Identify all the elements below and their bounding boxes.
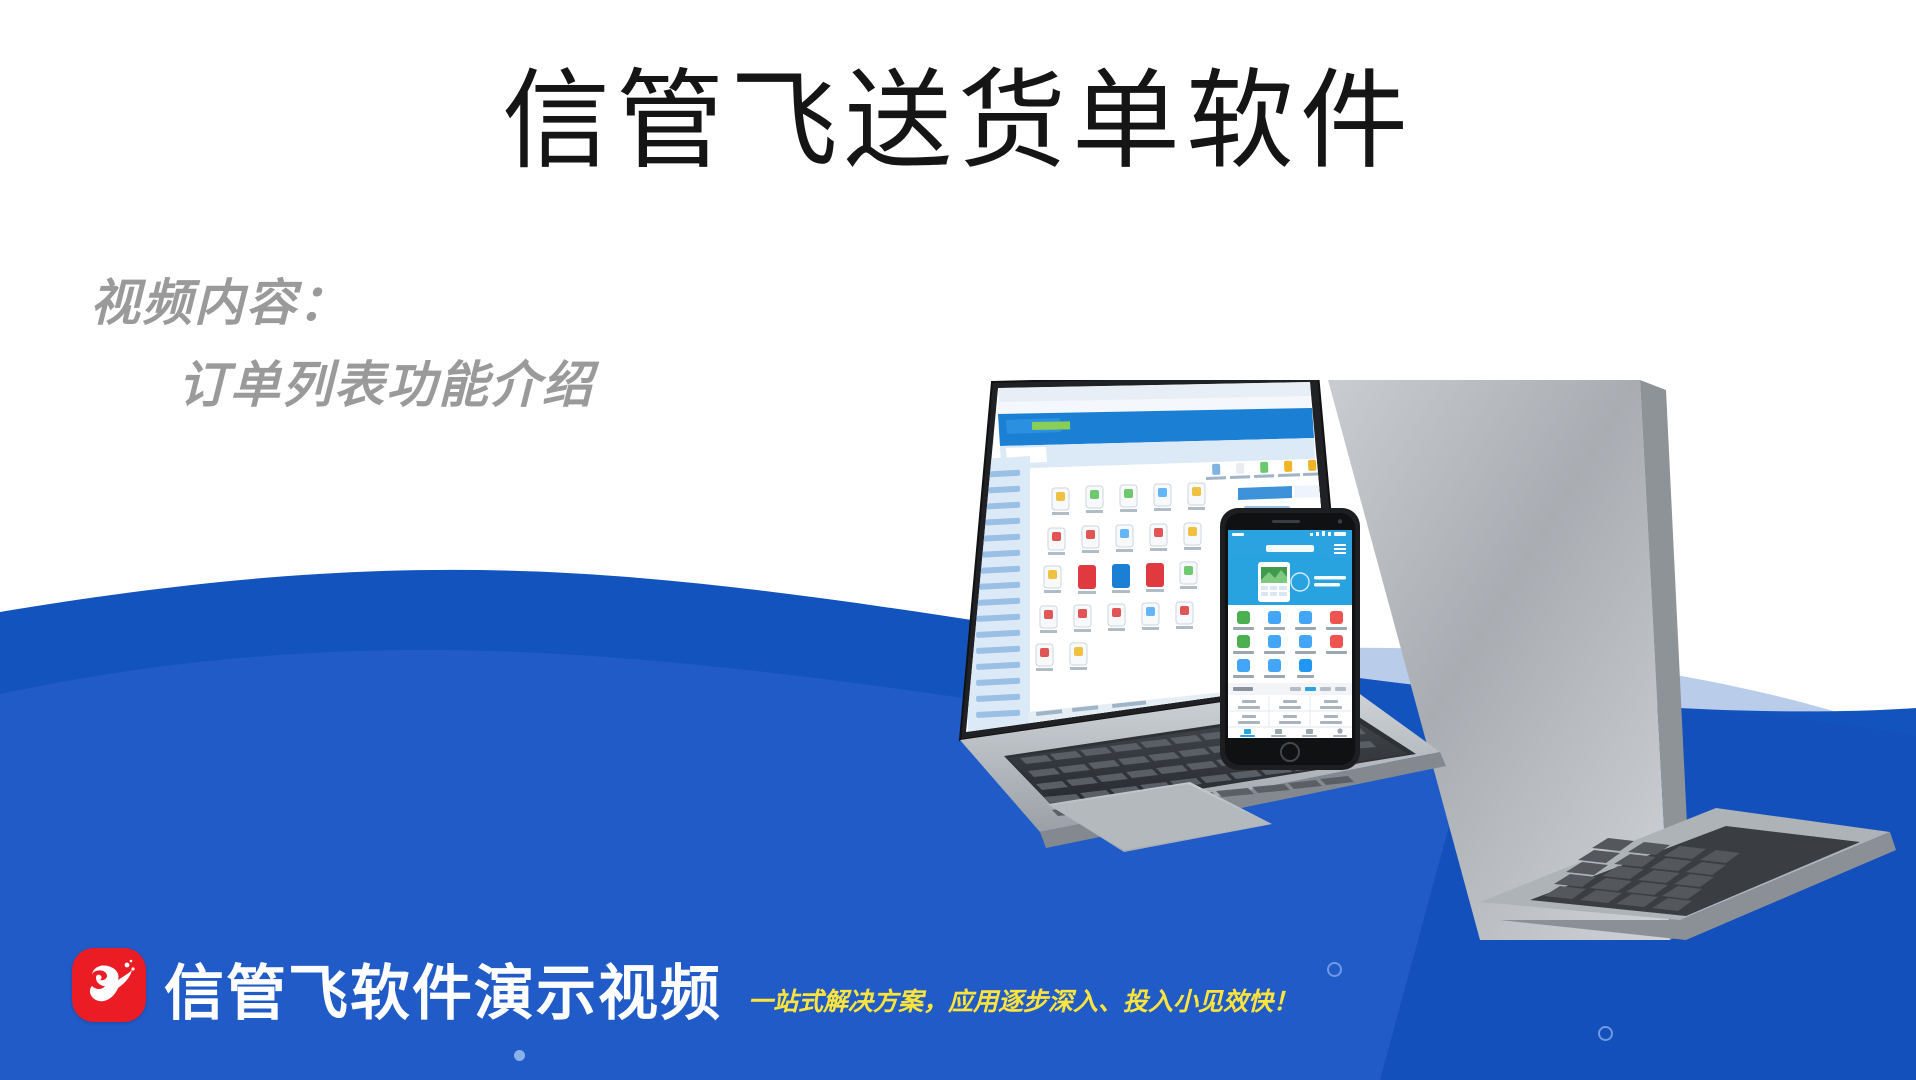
presentation-slide: 信管飞送货单软件 视频内容： 订单列表功能介绍 <box>0 0 1916 1080</box>
phone-function-grid <box>1228 605 1352 681</box>
footer-banner: 信管飞软件演示视频 一站式解决方案，应用逐步深入、投入小见效快！ <box>0 880 1916 1080</box>
brand-title: 信管飞软件演示视频 <box>164 964 722 1024</box>
slide-title: 信管飞送货单软件 <box>0 62 1916 183</box>
subtitle-block: 视频内容： 订单列表功能介绍 <box>90 278 594 410</box>
phone-stats-section <box>1228 683 1352 727</box>
phone-bottom-nav <box>1228 727 1352 738</box>
subtitle-line-1: 视频内容： <box>90 278 594 328</box>
xinguanfei-logo-icon <box>72 948 146 1022</box>
subtitle-line-2: 订单列表功能介绍 <box>178 360 594 410</box>
hamburger-icon <box>1334 544 1346 554</box>
brand-tagline: 一站式解决方案，应用逐步深入、投入小见效快！ <box>748 982 1298 1018</box>
device-cluster <box>880 380 1916 940</box>
brand-row: 信管飞软件演示视频 一站式解决方案，应用逐步深入、投入小见效快！ <box>72 948 1298 1028</box>
back-laptop <box>1328 380 1896 940</box>
smartphone <box>1220 508 1360 770</box>
